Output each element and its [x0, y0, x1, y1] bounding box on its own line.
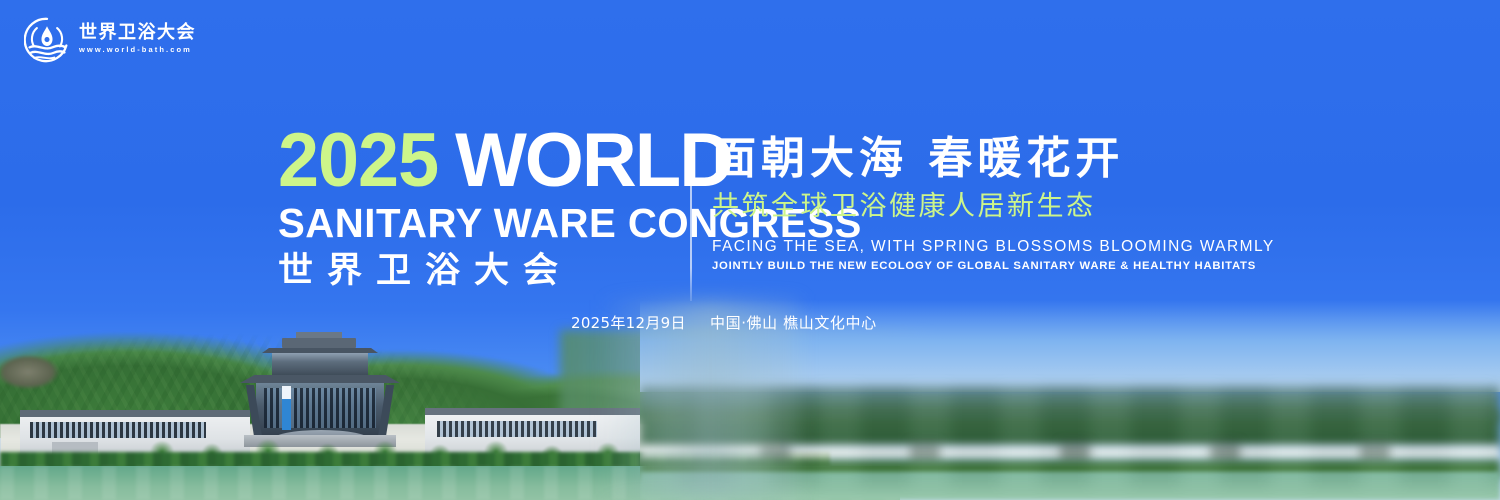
vertical-divider: [690, 136, 692, 301]
event-banner: 世界卫浴大会 www.world-bath.com 2025 WORLD SAN…: [0, 0, 1500, 500]
headline-block: 2025 WORLD SANITARY WARE CONGRESS 世界卫浴大会: [278, 126, 678, 290]
world-bath-congress-emblem-icon: [24, 17, 70, 63]
event-venue: 中国·佛山 樵山文化中心: [710, 312, 877, 333]
slogan-sub-en: JOINTLY BUILD THE NEW ECOLOGY OF GLOBAL …: [712, 259, 1242, 274]
curtain-wall-glazing: [264, 388, 376, 428]
vertical-event-banner: [282, 386, 291, 430]
headline-subtitle-cn: 世界卫浴大会: [278, 252, 678, 291]
headline-subtitle-en: SANITARY WARE CONGRESS: [278, 202, 670, 245]
event-date: 2025年12月9日: [571, 312, 686, 333]
rock-outcrop: [0, 352, 70, 392]
slogan-sub-cn: 共筑全球卫浴健康人居新生态: [712, 190, 1242, 224]
logo-lockup[interactable]: 世界卫浴大会 www.world-bath.com: [24, 17, 196, 63]
main-eave: [240, 375, 400, 383]
upper-tier: [272, 353, 368, 375]
slogan-main-en: FACING THE SEA, WITH SPRING BLOSSOMS BLO…: [712, 237, 1242, 256]
west-wing-roof: [20, 410, 250, 417]
east-wing-roof: [425, 408, 640, 415]
blur-streaks: [640, 386, 1500, 486]
headline-year: 2025: [278, 126, 438, 196]
logo-text-group: 世界卫浴大会 www.world-bath.com: [79, 23, 196, 57]
logo-website-url: www.world-bath.com: [79, 45, 196, 55]
roof-cap: [282, 338, 356, 348]
headline-line-1: 2025 WORLD: [278, 126, 678, 196]
slogan-main-cn: 面朝大海 春暖花开: [712, 134, 1242, 183]
slogan-block: 面朝大海 春暖花开 共筑全球卫浴健康人居新生态 FACING THE SEA, …: [712, 134, 1242, 274]
logo-name-cn: 世界卫浴大会: [79, 23, 196, 43]
